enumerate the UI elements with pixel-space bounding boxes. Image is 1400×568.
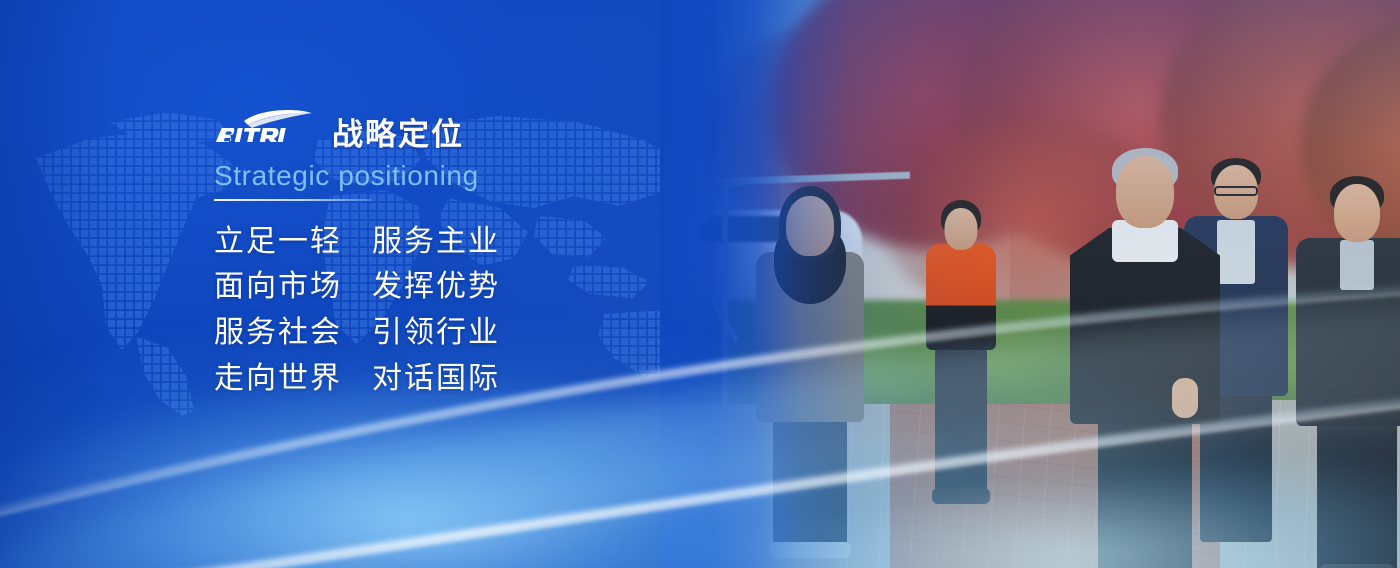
slogan-left: 立足一轻	[214, 219, 350, 265]
slogan-right: 对话国际	[372, 356, 500, 402]
slogan-left: 走向世界	[214, 356, 350, 402]
strategic-positioning-banner: 战略定位 Strategic positioning 立足一轻 服务主业 面向市…	[0, 0, 1400, 568]
slogan-row: 立足一轻 服务主业	[214, 219, 674, 265]
bitri-logo[interactable]	[214, 108, 318, 152]
slogan-right: 发挥优势	[372, 264, 500, 310]
brand-title-cn: 战略定位	[332, 119, 464, 150]
title-divider	[214, 199, 372, 201]
slogan-right: 引领行业	[372, 310, 500, 356]
slogan-row: 面向市场 发挥优势	[214, 264, 674, 310]
brand-line: 战略定位	[214, 106, 674, 152]
slogan-right: 服务主业	[372, 219, 500, 265]
brand-title-en: Strategic positioning	[214, 161, 674, 192]
slogan-left: 服务社会	[214, 310, 350, 356]
slogan-left: 面向市场	[214, 264, 350, 310]
slogan-list: 立足一轻 服务主业 面向市场 发挥优势 服务社会 引领行业 走向世界 对话国际	[214, 219, 674, 401]
content-block: 战略定位 Strategic positioning 立足一轻 服务主业 面向市…	[214, 106, 674, 401]
slogan-row: 走向世界 对话国际	[214, 356, 674, 402]
slogan-row: 服务社会 引领行业	[214, 310, 674, 356]
